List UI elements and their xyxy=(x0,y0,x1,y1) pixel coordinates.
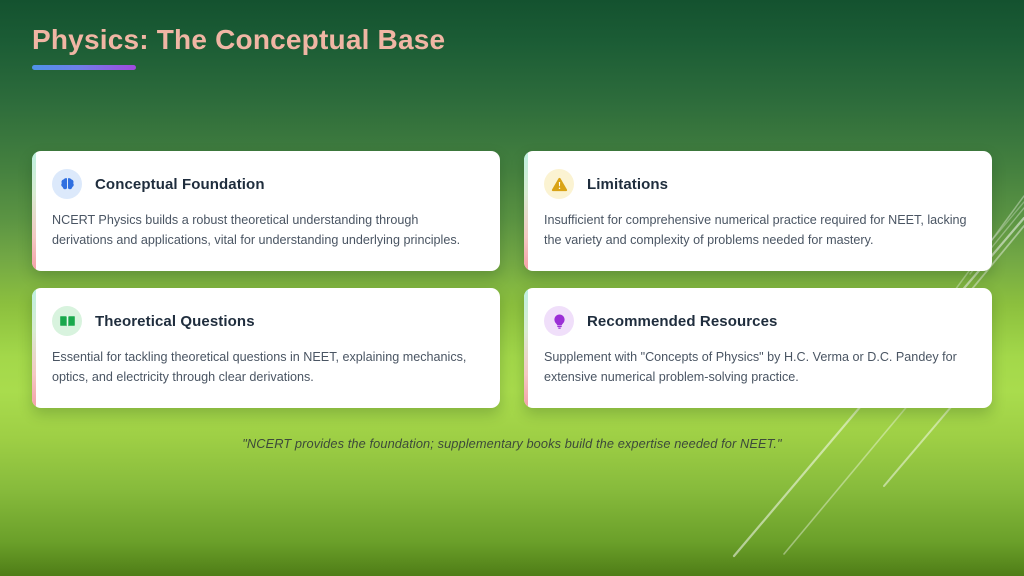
card-body-text: Supplement with "Concepts of Physics" by… xyxy=(544,348,972,387)
cards-grid: Conceptual Foundation NCERT Physics buil… xyxy=(32,151,992,408)
card-conceptual-foundation[interactable]: Conceptual Foundation NCERT Physics buil… xyxy=(32,151,500,271)
card-theoretical-questions[interactable]: Theoretical Questions Essential for tack… xyxy=(32,288,500,408)
warning-triangle-icon xyxy=(544,169,574,199)
card-body-text: Essential for tackling theoretical quest… xyxy=(52,348,480,387)
open-book-icon xyxy=(52,306,82,336)
card-title: Recommended Resources xyxy=(587,313,778,330)
slide-header: Physics: The Conceptual Base xyxy=(32,22,445,70)
card-recommended-resources[interactable]: Recommended Resources Supplement with "C… xyxy=(524,288,992,408)
card-title: Theoretical Questions xyxy=(95,313,255,330)
card-header: Limitations xyxy=(544,169,972,199)
card-header: Theoretical Questions xyxy=(52,306,480,336)
brain-icon xyxy=(52,169,82,199)
card-body-text: Insufficient for comprehensive numerical… xyxy=(544,211,972,250)
lightbulb-icon xyxy=(544,306,574,336)
page-title: Physics: The Conceptual Base xyxy=(32,22,445,57)
card-header: Conceptual Foundation xyxy=(52,169,480,199)
slide-canvas: Physics: The Conceptual Base Conceptual … xyxy=(0,0,1024,576)
card-title: Limitations xyxy=(587,176,668,193)
card-limitations[interactable]: Limitations Insufficient for comprehensi… xyxy=(524,151,992,271)
title-underline-rule xyxy=(32,65,136,70)
card-title: Conceptual Foundation xyxy=(95,176,265,193)
footer-quote: "NCERT provides the foundation; suppleme… xyxy=(0,436,1024,451)
card-header: Recommended Resources xyxy=(544,306,972,336)
card-body-text: NCERT Physics builds a robust theoretica… xyxy=(52,211,480,250)
